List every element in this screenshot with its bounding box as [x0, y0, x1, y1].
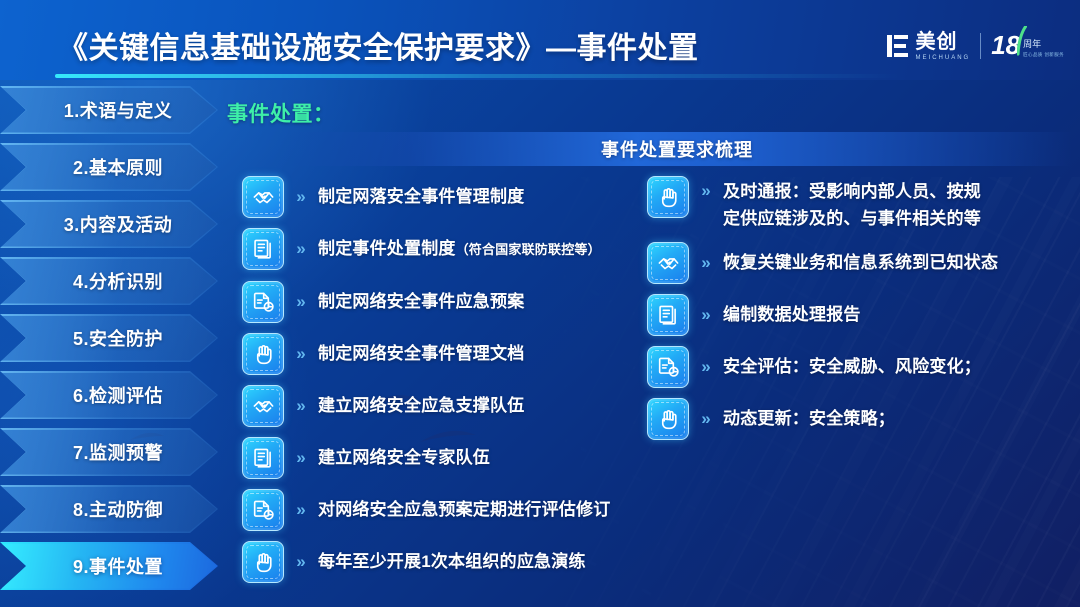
bullet-item: »建立网络安全专家队伍 [242, 437, 652, 479]
bullet-text: 建立网络安全应急支撑队伍 [318, 385, 652, 427]
bullet-item: »每年至少开展1次本组织的应急演练 [242, 541, 652, 583]
sidebar-item-1[interactable]: 1.术语与定义 [0, 86, 222, 134]
meichuang-logo-icon [886, 33, 910, 59]
section-title: 事件处置： [227, 98, 335, 128]
bullet-text: 对网络安全应急预案定期进行评估修订 [318, 489, 652, 531]
chevron-right-icon: » [698, 242, 714, 284]
bullet-item: »及时通报：受影响内部人员、按规 定供应链涉及的、与事件相关的等 [647, 176, 1077, 232]
chevron-right-icon: » [293, 176, 309, 218]
brand-name-cn: 美创 [916, 32, 971, 52]
sidebar-item-3[interactable]: 3.内容及活动 [0, 200, 222, 248]
bullet-item: »制定事件处置制度（符合国家联防联控等） [242, 228, 652, 271]
sidebar-item-shape-inner [2, 544, 217, 589]
sidebar-item-shape-inner [2, 88, 217, 133]
bullet-text: 及时通报：受影响内部人员、按规 定供应链涉及的、与事件相关的等 [723, 176, 1077, 232]
chevron-right-icon: » [293, 385, 309, 427]
bullet-item: »编制数据处理报告 [647, 294, 1077, 336]
bullet-text: 制定网落安全事件管理制度 [318, 176, 652, 218]
handshake-icon [242, 385, 284, 427]
bullet-columns: »制定网落安全事件管理制度»制定事件处置制度（符合国家联防联控等）»制定网络安全… [222, 176, 1080, 601]
hand-icon [242, 333, 284, 375]
documents-icon [242, 228, 284, 270]
bullet-column-right: »及时通报：受影响内部人员、按规 定供应链涉及的、与事件相关的等»恢复关键业务和… [647, 176, 1077, 450]
chevron-right-icon: » [293, 437, 309, 479]
handshake-icon [647, 242, 689, 284]
bullet-item: »制定网络安全事件管理文档 [242, 333, 652, 375]
sidebar-item-shape-inner [2, 316, 217, 361]
chevron-right-icon: » [293, 228, 309, 270]
sidebar-item-2[interactable]: 2.基本原则 [0, 143, 222, 191]
chevron-right-icon: » [698, 398, 714, 440]
banner-title: 事件处置要求梳理 [601, 136, 753, 162]
chevron-right-icon: » [698, 176, 714, 206]
document-clock-icon [647, 346, 689, 388]
documents-icon [647, 294, 689, 336]
sidebar-nav: 1.术语与定义2.基本原则3.内容及活动4.分析识别5.安全防护6.检测评估7.… [0, 86, 222, 607]
bullet-item: »动态更新：安全策略； [647, 398, 1077, 440]
bullet-text: 制定网络安全事件管理文档 [318, 333, 652, 375]
logo-divider [980, 33, 981, 59]
bullet-text: 动态更新：安全策略； [723, 398, 1077, 440]
chevron-right-icon: » [293, 489, 309, 531]
chevron-right-icon: » [293, 333, 309, 375]
bullet-item: »制定网落安全事件管理制度 [242, 176, 652, 218]
sidebar-item-shape-inner [2, 373, 217, 418]
bullet-item: »对网络安全应急预案定期进行评估修订 [242, 489, 652, 531]
chevron-right-icon: » [698, 346, 714, 388]
sidebar-item-8[interactable]: 8.主动防御 [0, 485, 222, 533]
bullet-text: 恢复关键业务和信息系统到已知状态 [723, 242, 1077, 284]
sidebar-item-9-active[interactable]: 9.事件处置 [0, 542, 222, 590]
brand-mark: 美创 MEICHUANG [886, 32, 971, 61]
bullet-item: »建立网络安全应急支撑队伍 [242, 385, 652, 427]
chevron-right-icon: » [293, 281, 309, 323]
bullet-column-left: »制定网落安全事件管理制度»制定事件处置制度（符合国家联防联控等）»制定网络安全… [242, 176, 652, 593]
sidebar-item-5[interactable]: 5.安全防护 [0, 314, 222, 362]
sidebar-item-shape-inner [2, 430, 217, 475]
bullet-text: 安全评估：安全威胁、风险变化； [723, 346, 1077, 388]
bullet-text: 建立网络安全专家队伍 [318, 437, 652, 479]
bullet-text: 制定事件处置制度（符合国家联防联控等） [318, 228, 652, 271]
slide-header: 《关键信息基础设施安全保护要求》—事件处置 美创 MEICHUANG [0, 0, 1080, 80]
hand-icon [647, 398, 689, 440]
bullet-text-note: （符合国家联防联控等） [456, 242, 601, 257]
anniversary-label: 周年 [1023, 39, 1064, 51]
chevron-right-icon: » [698, 294, 714, 336]
page-title: 《关键信息基础设施安全保护要求》—事件处置 [58, 23, 699, 67]
brand-name-en: MEICHUANG [916, 55, 971, 61]
sidebar-item-7[interactable]: 7.监测预警 [0, 428, 222, 476]
bullet-text: 每年至少开展1次本组织的应急演练 [318, 541, 652, 583]
sidebar-item-shape-inner [2, 145, 217, 190]
document-clock-icon [242, 281, 284, 323]
main-content: 事件处置： 事件处置要求梳理 »制定网落安全事件管理制度»制定事件处置制度（符合… [222, 86, 1080, 607]
sidebar-item-shape-inner [2, 487, 217, 532]
anniversary-badge: 18 周年 匠心品质 创新服务 [991, 34, 1064, 57]
handshake-icon [242, 176, 284, 218]
bullet-item: »恢复关键业务和信息系统到已知状态 [647, 242, 1077, 284]
chevron-right-icon: » [293, 541, 309, 583]
bullet-text: 制定网络安全事件应急预案 [318, 281, 652, 323]
document-clock-icon [242, 489, 284, 531]
hand-icon [647, 176, 689, 218]
anniversary-subtitle: 匠心品质 创新服务 [1023, 52, 1064, 58]
anniversary-number: 18 [991, 34, 1020, 57]
content-banner: 事件处置要求梳理 [282, 132, 1072, 166]
title-underline [55, 74, 1015, 78]
sidebar-item-4[interactable]: 4.分析识别 [0, 257, 222, 305]
documents-icon [242, 437, 284, 479]
bullet-item: »安全评估：安全威胁、风险变化； [647, 346, 1077, 388]
bullet-text: 编制数据处理报告 [723, 294, 1077, 336]
sidebar-item-6[interactable]: 6.检测评估 [0, 371, 222, 419]
hand-icon [242, 541, 284, 583]
sidebar-item-shape-inner [2, 259, 217, 304]
sidebar-item-shape-inner [2, 202, 217, 247]
bullet-item: »制定网络安全事件应急预案 [242, 281, 652, 323]
slide-root: 《关键信息基础设施安全保护要求》—事件处置 美创 MEICHUANG [0, 0, 1080, 607]
anniversary-swoosh-icon [1017, 26, 1027, 56]
company-logo: 美创 MEICHUANG 18 周年 匠心品质 创新服务 [886, 28, 1064, 64]
